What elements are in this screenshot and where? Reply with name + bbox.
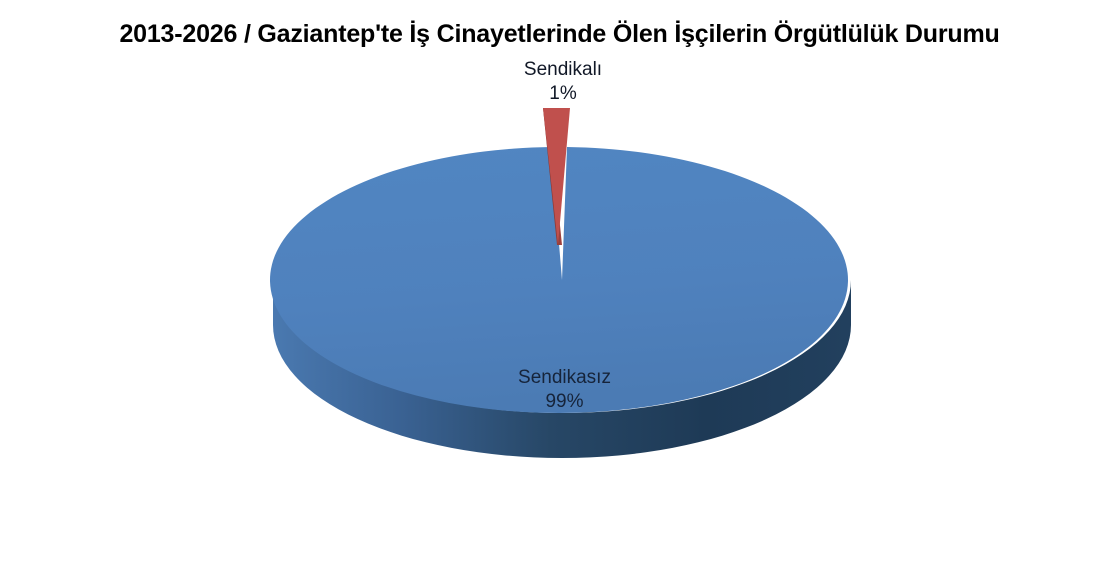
slice-label-sendikasiz-percent: 99% (452, 390, 677, 414)
slice-label-sendikasiz-name: Sendikasız (452, 366, 677, 390)
slice-label-sendikali-name: Sendikalı (428, 58, 698, 82)
slice-label-sendikali: Sendikalı 1% (428, 58, 698, 106)
slice-label-sendikasiz: Sendikasız 99% (452, 366, 677, 414)
pie-chart-figure: 2013-2026 / Gaziantep'te İş Cinayetlerin… (0, 0, 1119, 566)
slice-label-sendikali-percent: 1% (428, 82, 698, 106)
